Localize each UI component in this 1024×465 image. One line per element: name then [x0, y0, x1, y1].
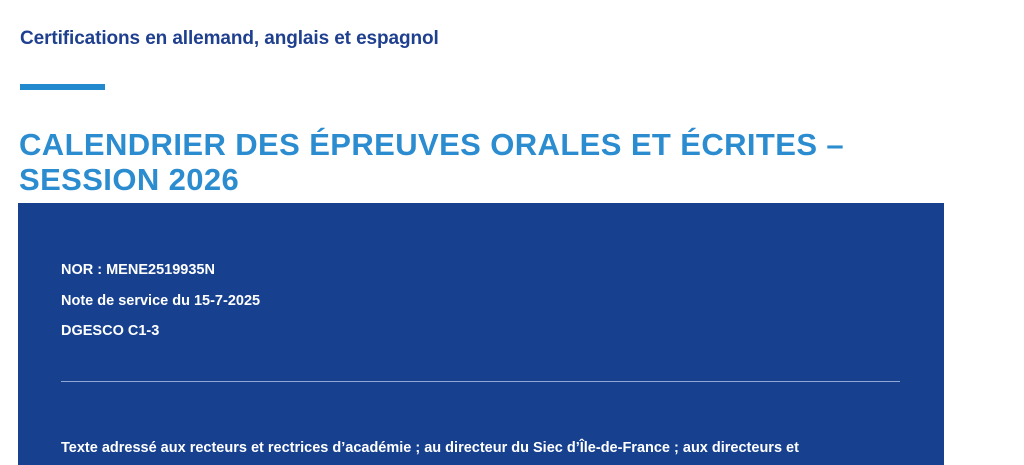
- page-title: Calendrier des épreuves orales et écrite…: [19, 127, 979, 197]
- metadata-item-dgesco: DGESCO C1-3: [61, 316, 260, 347]
- metadata-item-nor: NOR : MENE2519935N: [61, 255, 260, 286]
- panel-horizontal-rule: [61, 381, 900, 382]
- panel-addressee-paragraph: Texte adressé aux recteurs et rectrices …: [61, 435, 921, 461]
- info-panel: NOR : MENE2519935N Note de service du 15…: [18, 203, 944, 465]
- accent-bar-divider: [20, 84, 105, 90]
- page-kicker: Certifications en allemand, anglais et e…: [20, 26, 439, 52]
- metadata-list: NOR : MENE2519935N Note de service du 15…: [61, 255, 260, 347]
- document-page: Certifications en allemand, anglais et e…: [0, 0, 1024, 461]
- metadata-item-note-de-service: Note de service du 15-7-2025: [61, 286, 260, 317]
